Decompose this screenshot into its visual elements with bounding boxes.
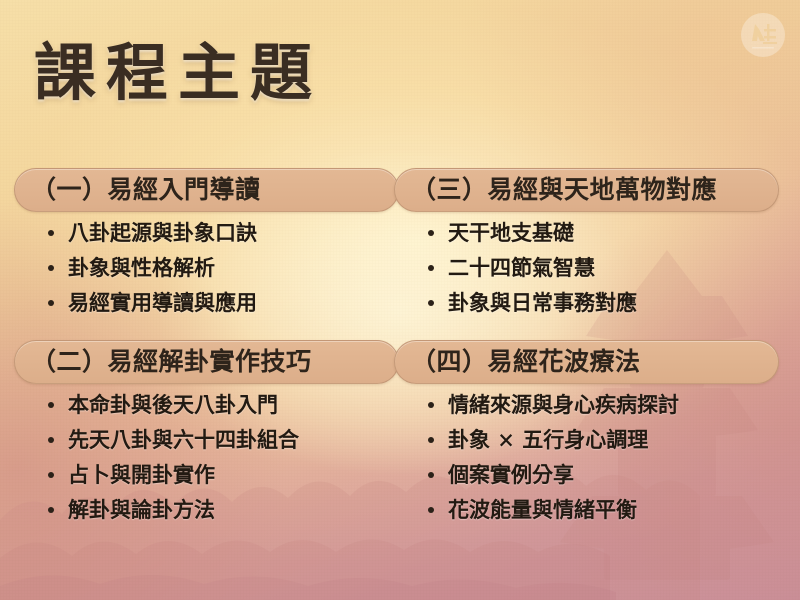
section-three: （三）易經與天地萬物對應 天干地支基礎 二十四節氣智慧 卦象與日常事務對應 [394,168,779,327]
list-item: 解卦與論卦方法 [48,499,399,520]
list-item: 卦象與日常事務對應 [428,292,779,313]
brand-logo-icon [738,10,788,60]
section-four-heading: （四）易經花波療法 [394,340,779,384]
list-item: 情緒來源與身心疾病探討 [428,394,779,415]
section-two-list: 本命卦與後天八卦入門 先天八卦與六十四卦組合 占卜與開卦實作 解卦與論卦方法 [14,394,399,520]
section-two: （二）易經解卦實作技巧 本命卦與後天八卦入門 先天八卦與六十四卦組合 占卜與開卦… [14,340,399,534]
list-item: 本命卦與後天八卦入門 [48,394,399,415]
section-one-list: 八卦起源與卦象口訣 卦象與性格解析 易經實用導讀與應用 [14,222,399,313]
section-three-list: 天干地支基礎 二十四節氣智慧 卦象與日常事務對應 [394,222,779,313]
list-item: 花波能量與情緒平衡 [428,499,779,520]
list-item: 個案實例分享 [428,464,779,485]
list-item: 八卦起源與卦象口訣 [48,222,399,243]
section-two-heading: （二）易經解卦實作技巧 [14,340,399,384]
list-item: 天干地支基礎 [428,222,779,243]
section-one: （一）易經入門導讀 八卦起源與卦象口訣 卦象與性格解析 易經實用導讀與應用 [14,168,399,327]
section-three-heading: （三）易經與天地萬物對應 [394,168,779,212]
list-item: 易經實用導讀與應用 [48,292,399,313]
list-item: 卦象 × 五行身心調理 [428,429,779,450]
section-four-list: 情緒來源與身心疾病探討 卦象 × 五行身心調理 個案實例分享 花波能量與情緒平衡 [394,394,779,520]
list-item: 二十四節氣智慧 [428,257,779,278]
list-item: 卦象與性格解析 [48,257,399,278]
section-one-heading: （一）易經入門導讀 [14,168,399,212]
page-title: 課程主題 [34,40,322,105]
section-four: （四）易經花波療法 情緒來源與身心疾病探討 卦象 × 五行身心調理 個案實例分享… [394,340,779,534]
list-item: 占卜與開卦實作 [48,464,399,485]
slide-canvas: 課程主題 （一）易經入門導讀 八卦起源與卦象口訣 卦象與性格解析 易經實用導讀與… [0,0,800,600]
list-item: 先天八卦與六十四卦組合 [48,429,399,450]
